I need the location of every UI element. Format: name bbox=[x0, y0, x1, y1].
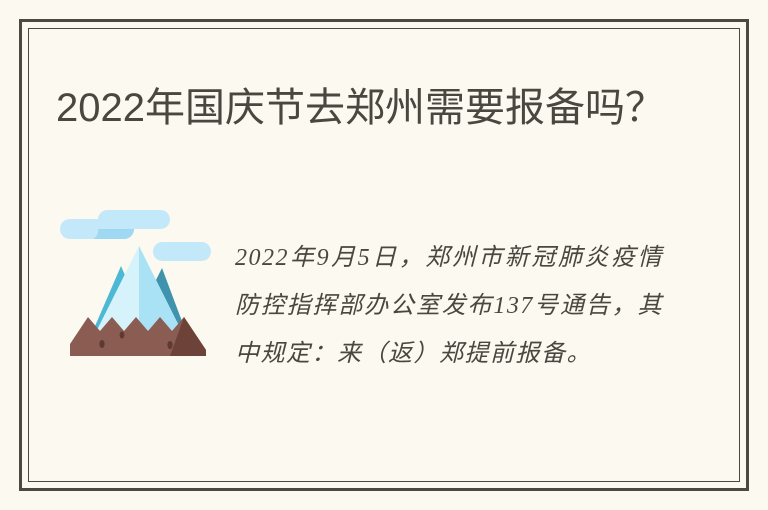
card-content: 2022年国庆节去郑州需要报备吗？ bbox=[28, 28, 740, 482]
article-body: 2022年9月5日，郑州市新冠肺炎疫情防控指挥部办公室发布137号通告，其中规定… bbox=[235, 234, 663, 378]
mountain-landscape-icon bbox=[58, 204, 218, 364]
page-title: 2022年国庆节去郑州需要报备吗？ bbox=[56, 81, 696, 136]
article-card: 2022年国庆节去郑州需要报备吗？ bbox=[0, 0, 768, 510]
